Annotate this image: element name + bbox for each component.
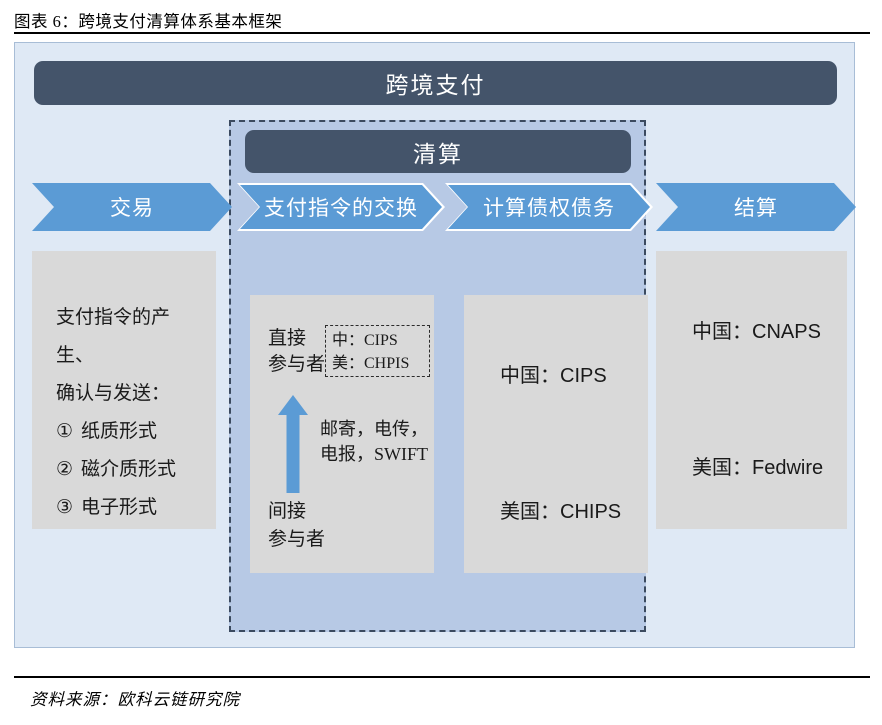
transaction-heading-line2: 确认与发送： <box>56 375 206 413</box>
netting-usa-system: 美国：CHIPS <box>500 495 621 524</box>
banner-clearing: 清算 <box>245 130 631 173</box>
stage-chevron-exchange-fill[interactable]: 支付指令的交换 <box>240 185 442 229</box>
indirect-participant-line1: 间接 <box>268 498 325 526</box>
system-china-cips: 中：CIPS <box>332 329 429 352</box>
transaction-item-2: ②磁介质形式 <box>56 451 206 489</box>
transaction-details: 支付指令的产生、 确认与发送： ①纸质形式 ②磁介质形式 ③电子形式 <box>56 299 206 527</box>
caption-rule <box>14 32 870 34</box>
banner-cross-border-payment: 跨境支付 <box>34 61 837 105</box>
transmit-methods-label: 邮寄，电传， 电报，SWIFT <box>320 417 428 467</box>
transaction-item-2-text: 磁介质形式 <box>81 459 176 480</box>
transaction-item-3-text: 电子形式 <box>81 497 157 518</box>
stage-chevron-netting-fill[interactable]: 计算债权债务 <box>448 185 650 229</box>
content-box-settlement: 中国：CNAPS 美国：Fedwire <box>656 251 847 529</box>
content-box-transaction: 支付指令的产生、 确认与发送： ①纸质形式 ②磁介质形式 ③电子形式 <box>32 251 216 529</box>
stage-chevron-transaction[interactable]: 交易 <box>32 183 232 231</box>
direct-participant-label: 直接 参与者 <box>268 326 325 378</box>
indirect-participant-label: 间接 参与者 <box>268 498 325 554</box>
stage-label-settlement: 结算 <box>734 192 778 222</box>
figure-caption: 图表 6：跨境支付清算体系基本框架 <box>14 8 282 32</box>
stage-label-netting: 计算债权债务 <box>483 192 615 222</box>
diagram-frame: 跨境支付 清算 直接 参与者 中：CIPS 美：CHPIS 邮寄，电传， 电报，… <box>14 42 855 648</box>
direct-participant-systems-box: 中：CIPS 美：CHPIS <box>325 325 430 377</box>
transaction-heading-line1: 支付指令的产生、 <box>56 299 206 375</box>
netting-china-system: 中国：CIPS <box>500 359 607 388</box>
transmit-line1: 邮寄，电传， <box>320 417 428 442</box>
stage-label-exchange: 支付指令的交换 <box>264 192 418 222</box>
direct-participant-line2: 参与者 <box>268 352 325 378</box>
stage-label-transaction: 交易 <box>110 192 154 222</box>
content-box-netting: 中国：CIPS 美国：CHIPS <box>464 295 648 573</box>
up-arrow-icon <box>278 395 308 493</box>
transaction-item-2-marker: ② <box>56 459 73 480</box>
settlement-usa-system: 美国：Fedwire <box>692 451 823 480</box>
transaction-item-1: ①纸质形式 <box>56 413 206 451</box>
transaction-item-1-marker: ① <box>56 421 73 442</box>
indirect-participant-line2: 参与者 <box>268 526 325 554</box>
system-usa-chpis: 美：CHPIS <box>332 352 429 375</box>
stage-chevron-settlement[interactable]: 结算 <box>656 183 856 231</box>
content-box-exchange: 直接 参与者 中：CIPS 美：CHPIS 邮寄，电传， 电报，SWIFT 间接… <box>250 295 434 573</box>
transaction-item-1-text: 纸质形式 <box>81 421 157 442</box>
transaction-item-3-marker: ③ <box>56 497 73 518</box>
transaction-item-3: ③电子形式 <box>56 489 206 527</box>
settlement-china-system: 中国：CNAPS <box>692 315 821 344</box>
direct-participant-line1: 直接 <box>268 326 325 352</box>
source-rule <box>14 676 870 678</box>
transmit-line2: 电报，SWIFT <box>320 442 428 467</box>
stage-chevron-row: 交易 支付指令的交换 计算债权债务 结算 <box>15 183 856 235</box>
source-text: 资料来源：欧科云链研究院 <box>30 686 240 710</box>
